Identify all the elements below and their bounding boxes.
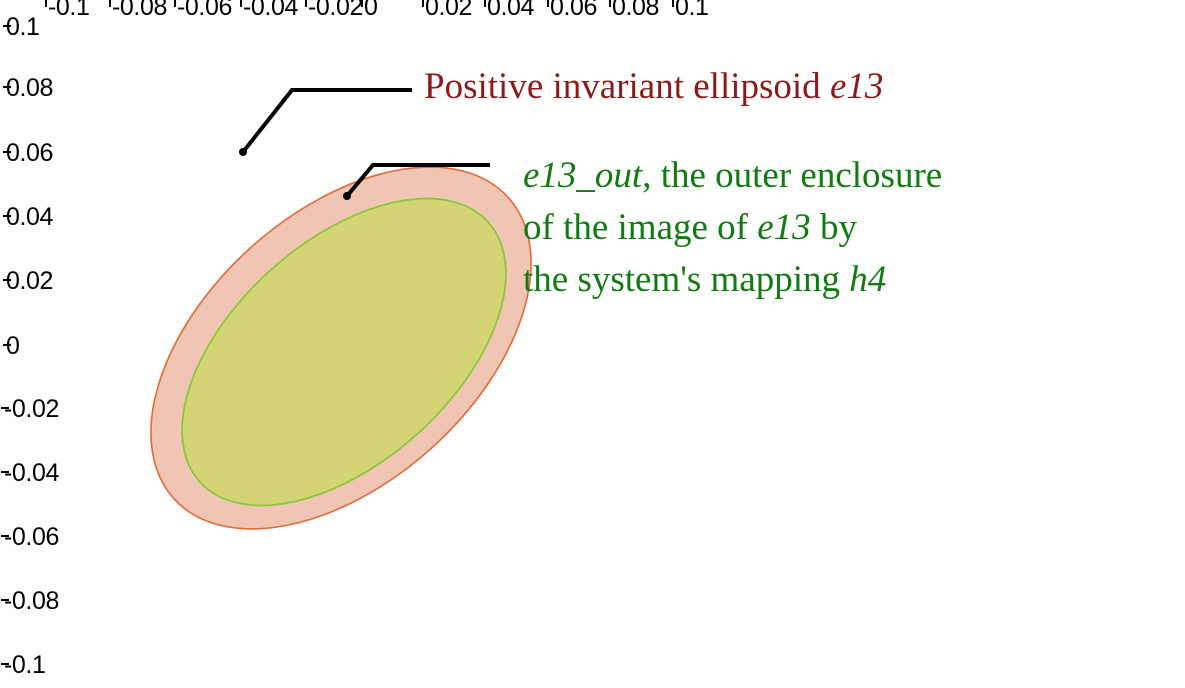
leader-dot-e13	[239, 148, 247, 156]
annotation-e13-out-line2-symbol: e13	[757, 207, 810, 248]
x-tick-label: 0.08	[612, 0, 659, 20]
x-tick-label: -0.1	[48, 0, 89, 20]
x-tick-label: 0	[364, 0, 378, 20]
annotation-e13-symbol: e13	[830, 66, 883, 107]
y-tick-label: -0.06	[4, 524, 59, 550]
annotation-e13-out-line1: e13_out, the outer enclosure	[523, 150, 942, 202]
annotation-e13-out-line2: of the image of e13 by	[523, 202, 942, 254]
leader-dot-e13-out	[343, 192, 351, 200]
y-tick-label: 0.06	[6, 140, 53, 166]
x-tick-label: 0.06	[550, 0, 597, 20]
annotation-e13-out-line2-a: of the image of	[523, 207, 757, 248]
y-tick-label: 0.04	[6, 204, 53, 230]
leader-line-e13	[243, 90, 412, 152]
y-tick-label: 0.08	[6, 75, 53, 101]
y-tick-label: -0.04	[4, 460, 59, 486]
plot-figure: -0.1 -0.08 -0.06 -0.04 -0.02 0 0.02 0.04…	[0, 0, 1185, 688]
y-tick-label: -0.08	[4, 588, 59, 614]
x-tick-label: 0.1	[675, 0, 709, 20]
x-tick-label: -0.08	[112, 0, 167, 20]
annotation-e13-out-line2-c: by	[811, 207, 857, 248]
annotation-e13-out: e13_out, the outer enclosure of the imag…	[523, 150, 942, 306]
x-tick-label: 0.04	[487, 0, 534, 20]
annotation-e13-out-line3: the system's mapping h4	[523, 254, 942, 306]
annotation-e13-out-symbol: e13_out	[523, 155, 642, 196]
annotation-e13-out-line3-a: the system's mapping	[523, 259, 849, 300]
y-tick-label: 0	[6, 333, 20, 359]
x-tick-label: 0.02	[425, 0, 472, 20]
y-tick-label: -0.1	[4, 652, 45, 678]
annotation-e13-out-line3-symbol: h4	[849, 259, 886, 300]
x-tick-label: -0.02	[308, 0, 363, 20]
x-tick-label: -0.04	[243, 0, 298, 20]
y-tick-label: -0.02	[4, 396, 59, 422]
annotation-e13-out-line1-rest: , the outer enclosure	[642, 155, 942, 196]
y-tick-label: 0.1	[6, 14, 40, 40]
annotation-e13-text: Positive invariant ellipsoid	[424, 66, 830, 107]
y-tick-label: 0.02	[6, 268, 53, 294]
annotation-e13: Positive invariant ellipsoid e13	[424, 64, 883, 109]
x-tick-label: -0.06	[177, 0, 232, 20]
